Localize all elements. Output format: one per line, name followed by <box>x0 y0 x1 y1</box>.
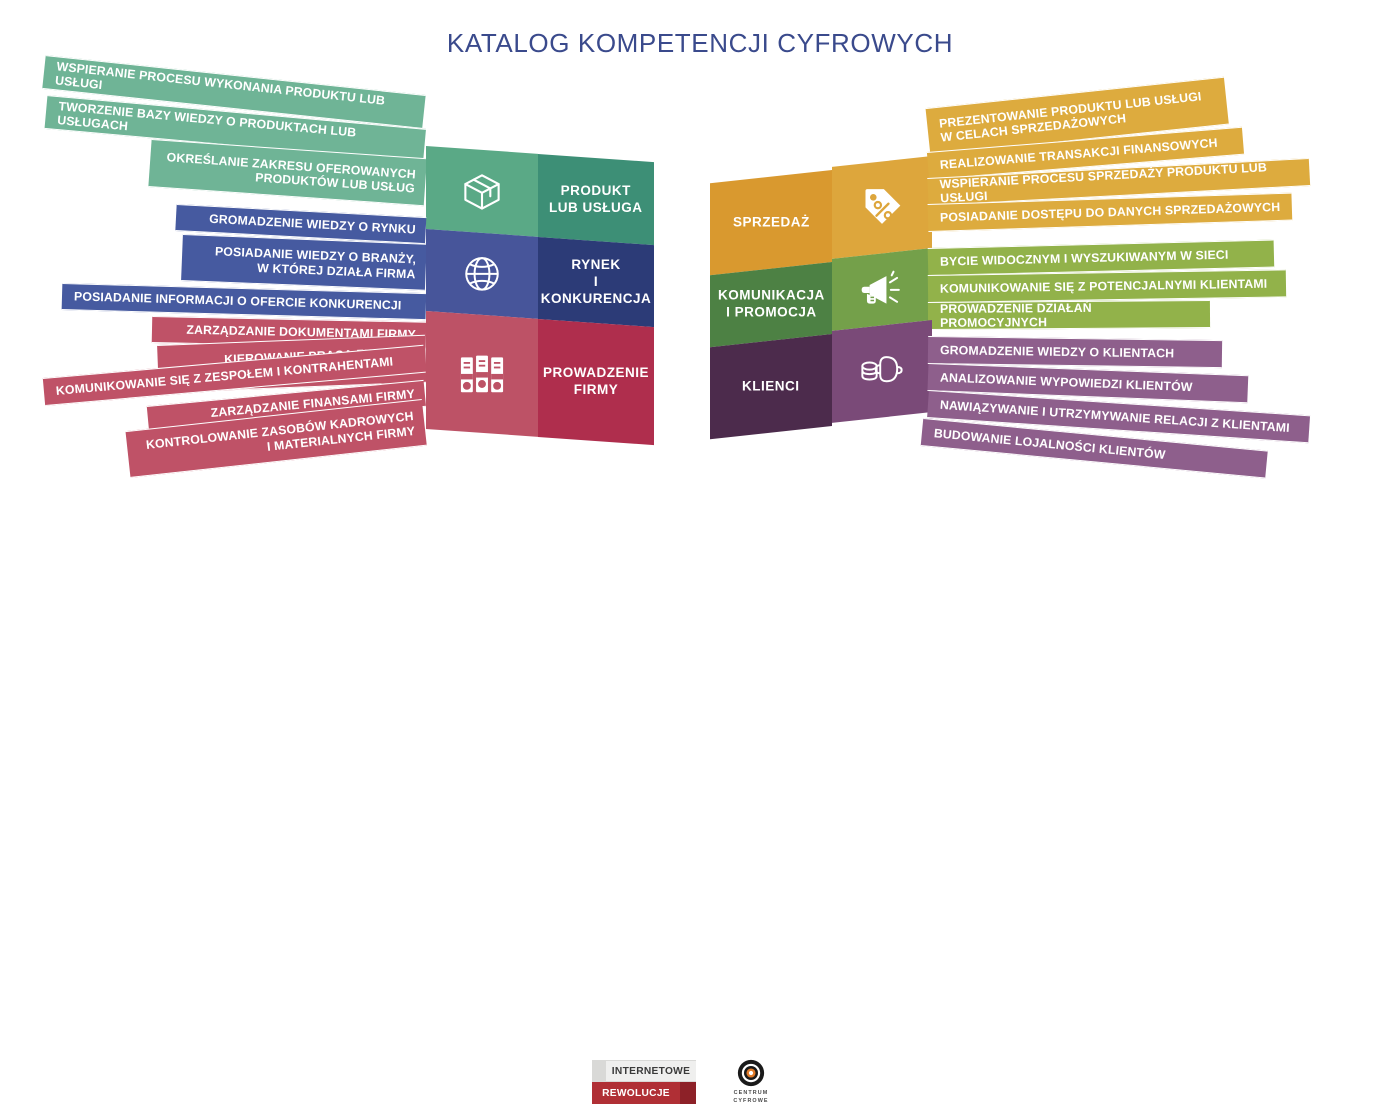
category-label: PRODUKT LUB USŁUGA <box>549 183 643 217</box>
category-label: PROWADZENIE FIRMY <box>543 365 649 399</box>
skill-bar[interactable]: POSIADANIE WIEDZY O BRANŻY, W KTÓREJ DZI… <box>181 234 427 291</box>
footer-logos: INTERNETOWE REWOLUCJE CENTRUM CYFROWE <box>0 528 1400 588</box>
skill-bar[interactable]: GROMADZENIE WIEDZY O KLIENTACH <box>928 336 1222 368</box>
category-icon-komunikacja <box>832 248 932 331</box>
skill-bar[interactable]: PROWADZENIE DZIAŁAŃ PROMOCYJNYCH <box>928 300 1210 330</box>
category-block-sprzedaz[interactable]: SPRZEDAŻ <box>710 170 832 275</box>
category-icon-prowadzenie <box>426 311 538 437</box>
infographic-canvas: KATALOG KOMPETENCJI CYFROWYCH WSPIERANIE… <box>0 0 1400 600</box>
logo-top-bar: INTERNETOWE <box>592 1060 696 1082</box>
category-icon-sprzedaz <box>832 156 932 259</box>
centrum-cyfrowe-mark <box>737 1059 765 1087</box>
logo-bottom-bar: REWOLUCJE <box>592 1082 696 1104</box>
category-block-rynek[interactable]: RYNEK I KONKURENCJA <box>538 237 654 327</box>
internetowe-rewolucje-logo: INTERNETOWE REWOLUCJE <box>592 1060 696 1106</box>
category-icon-klienci <box>832 320 932 423</box>
category-label: RYNEK I KONKURENCJA <box>538 257 654 308</box>
skill-bar[interactable]: KOMUNIKOWANIE SIĘ Z POTENCJALNYMI KLIENT… <box>928 269 1286 303</box>
centrum-cyfrowe-text: CENTRUM CYFROWE <box>733 1090 768 1106</box>
category-icon-rynek <box>426 229 538 319</box>
category-label: KLIENCI <box>742 378 800 395</box>
category-block-klienci[interactable]: KLIENCI <box>710 334 832 439</box>
category-label: KOMUNIKACJA I PROMOCJA <box>718 288 825 322</box>
category-icon-produkt <box>426 146 538 237</box>
category-block-produkt[interactable]: PRODUKT LUB USŁUGA <box>538 154 654 245</box>
category-label: SPRZEDAŻ <box>733 214 810 231</box>
category-block-prowadzenie[interactable]: PROWADZENIE FIRMY <box>538 319 654 445</box>
category-block-komunikacja[interactable]: KOMUNIKACJA I PROMOCJA <box>710 262 832 347</box>
logo-rewolucje-text: REWOLUCJE <box>602 1088 670 1099</box>
logo-internetowe-text: INTERNETOWE <box>612 1066 690 1077</box>
centrum-cyfrowe-logo: CENTRUM CYFROWE <box>718 1059 784 1107</box>
page-title: KATALOG KOMPETENCJI CYFROWYCH <box>0 28 1400 59</box>
